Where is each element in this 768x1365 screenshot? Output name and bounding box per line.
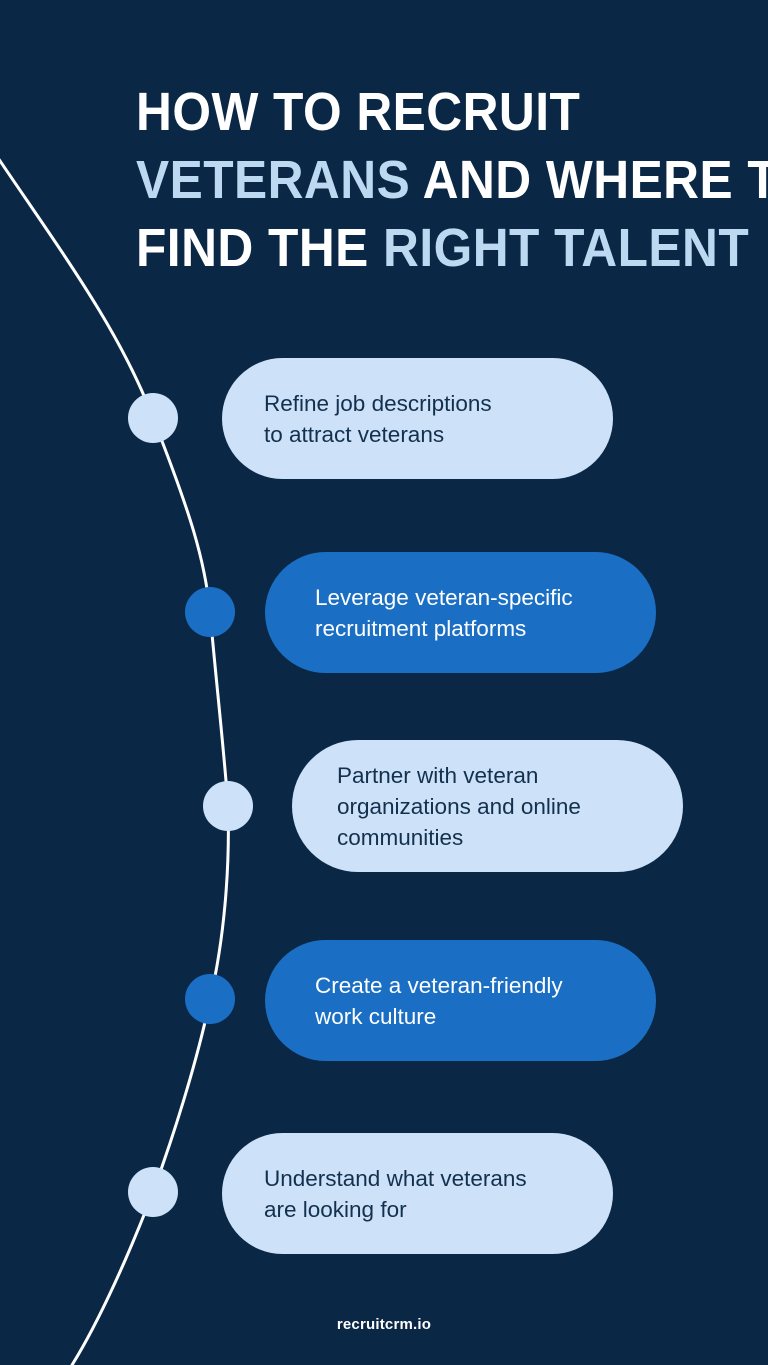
timeline-dot-3 xyxy=(203,781,253,831)
title-line-1: HOW TO RECRUIT xyxy=(136,78,670,146)
title-accent-veterans: VETERANS xyxy=(136,150,410,210)
step-card-4[interactable]: Create a veteran-friendly work culture xyxy=(265,940,656,1061)
title-line-3: FIND THE RIGHT TALENT xyxy=(136,214,670,282)
title-line-2: VETERANS AND WHERE TO xyxy=(136,146,670,214)
footer: recruitcrm.io xyxy=(0,1316,768,1334)
step-card-3-text: Partner with veteran organizations and o… xyxy=(337,760,581,853)
step-card-5[interactable]: Understand what veterans are looking for xyxy=(222,1133,613,1254)
title-accent-right-talent: RIGHT TALENT xyxy=(383,218,749,278)
infographic-poster: HOW TO RECRUIT VETERANS AND WHERE TO FIN… xyxy=(0,0,768,1365)
timeline-dot-2 xyxy=(185,587,235,637)
step-card-2-text: Leverage veteran-specific recruitment pl… xyxy=(315,582,573,644)
step-card-1-text: Refine job descriptions to attract veter… xyxy=(264,388,492,450)
page-title: HOW TO RECRUIT VETERANS AND WHERE TO FIN… xyxy=(136,78,716,282)
timeline-dot-1 xyxy=(128,393,178,443)
step-card-3[interactable]: Partner with veteran organizations and o… xyxy=(292,740,683,872)
step-card-2[interactable]: Leverage veteran-specific recruitment pl… xyxy=(265,552,656,673)
step-card-4-text: Create a veteran-friendly work culture xyxy=(315,970,563,1032)
step-card-1[interactable]: Refine job descriptions to attract veter… xyxy=(222,358,613,479)
brand-name: recruitcrm.io xyxy=(337,1316,431,1333)
title-line-1-text: HOW TO RECRUIT xyxy=(136,82,580,142)
timeline-dot-5 xyxy=(128,1167,178,1217)
timeline-dot-4 xyxy=(185,974,235,1024)
step-card-5-text: Understand what veterans are looking for xyxy=(264,1163,527,1225)
title-line-3-text: FIND THE xyxy=(136,218,383,278)
title-line-2-text: AND WHERE TO xyxy=(410,150,768,210)
